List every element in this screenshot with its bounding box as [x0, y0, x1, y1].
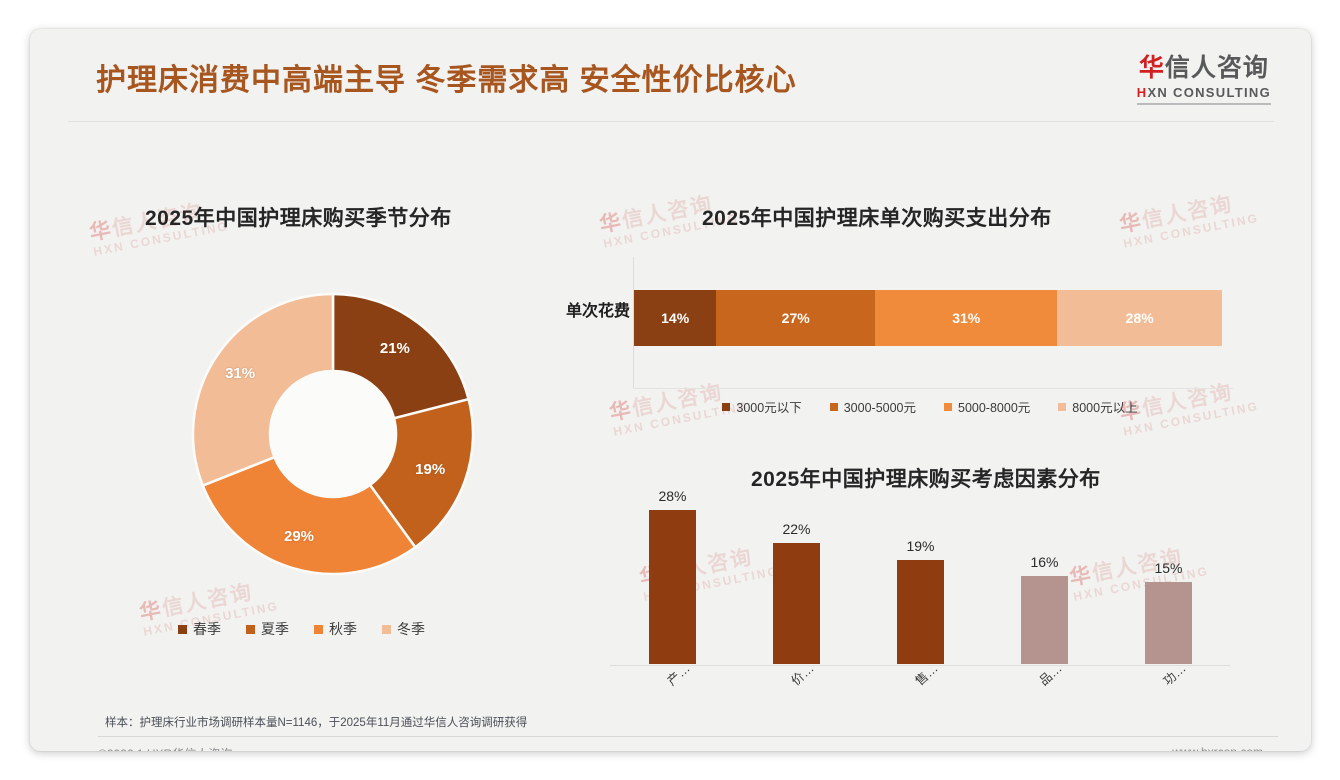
legend-label: 3000-5000元	[844, 397, 916, 416]
watermark-en: HXN CONSULTING	[1122, 211, 1260, 251]
legend-label: 3000元以下	[736, 397, 801, 416]
logo-cn-red: 华	[1139, 54, 1165, 82]
chart-title-factors: 2025年中国护理床购买考虑因素分布	[751, 463, 1101, 493]
legend-swatch-icon	[830, 403, 838, 411]
stacked-legend-item[interactable]: 3000-5000元	[830, 397, 916, 416]
donut-legend-item[interactable]: 夏季	[246, 619, 289, 639]
watermark-cn-red: 华	[598, 210, 625, 237]
column-bar[interactable]	[1021, 576, 1068, 664]
legend-swatch-icon	[1058, 403, 1066, 411]
donut-legend: 春季夏季秋季冬季	[178, 619, 425, 639]
column-value-label: 28%	[638, 488, 708, 504]
legend-swatch-icon	[944, 403, 952, 411]
donut-legend-item[interactable]: 秋季	[314, 619, 357, 639]
stacked-segment[interactable]: 28%	[1057, 290, 1222, 346]
stacked-bar-row[interactable]: 14%27%31%28%	[634, 290, 1222, 346]
footer-divider	[98, 736, 1278, 737]
source-note: 样本：护理床行业市场调研样本量N=1146，于2025年11月通过华信人咨询调研…	[105, 714, 527, 730]
watermark: 华信人咨询 HXN CONSULTING	[1118, 188, 1260, 251]
column-group: 19%	[897, 499, 944, 664]
watermark-cn-red: 华	[88, 218, 115, 245]
logo-cn-rest: 信人咨询	[1165, 54, 1269, 82]
legend-swatch-icon	[246, 625, 255, 634]
legend-swatch-icon	[178, 625, 187, 634]
watermark-cn-rest: 信人咨询	[620, 193, 715, 233]
header-divider	[68, 121, 1274, 122]
legend-label: 春季	[193, 619, 221, 639]
logo-en-rest: XN CONSULTING	[1147, 85, 1271, 100]
stacked-segment-value: 27%	[782, 310, 810, 326]
chart-season-donut: 21%19%29%31% 春季夏季秋季冬季	[138, 259, 558, 659]
donut-svg	[183, 284, 483, 584]
brand-logo: 华信人咨询 HXN CONSULTING	[1137, 55, 1271, 105]
column-value-label: 16%	[1010, 554, 1080, 570]
column-bar[interactable]	[773, 543, 820, 664]
legend-label: 5000-8000元	[958, 397, 1030, 416]
donut-slice-value: 21%	[380, 340, 410, 357]
donut-slice-value: 19%	[415, 461, 445, 478]
legend-label: 冬季	[397, 619, 425, 639]
stacked-row-label: 单次花费	[530, 297, 630, 321]
stacked-legend-item[interactable]: 8000元以上	[1058, 397, 1137, 416]
column-group: 22%	[773, 499, 820, 664]
stacked-segment[interactable]: 27%	[716, 290, 875, 346]
legend-label: 夏季	[261, 619, 289, 639]
slide-header: 护理床消费中高端主导 冬季需求高 安全性价比核心 华信人咨询 HXN CONSU…	[30, 29, 1311, 119]
legend-swatch-icon	[382, 625, 391, 634]
watermark-cn-rest: 信人咨询	[1140, 193, 1235, 233]
stacked-legend-item[interactable]: 3000元以下	[722, 397, 801, 416]
column-plot-area: 28%22%19%16%15%	[610, 499, 1230, 664]
watermark-cn-red: 华	[1118, 210, 1145, 237]
logo-underline	[1137, 103, 1271, 105]
legend-label: 秋季	[329, 619, 357, 639]
column-bar[interactable]	[649, 510, 696, 664]
logo-en-red: H	[1137, 85, 1148, 100]
stacked-segment-value: 28%	[1126, 310, 1154, 326]
column-group: 16%	[1021, 499, 1068, 664]
column-group: 28%	[649, 499, 696, 664]
donut-legend-item[interactable]: 春季	[178, 619, 221, 639]
donut-slice-value: 29%	[284, 528, 314, 545]
legend-swatch-icon	[722, 403, 730, 411]
stacked-legend: 3000元以下3000-5000元5000-8000元8000元以上	[640, 397, 1220, 416]
donut-slice-value: 31%	[225, 365, 255, 382]
stacked-legend-item[interactable]: 5000-8000元	[944, 397, 1030, 416]
stacked-segment[interactable]: 31%	[875, 290, 1057, 346]
chart-spend-stacked: 单次花费 14%27%31%28% 3000元以下3000-5000元5000-…	[520, 257, 1250, 417]
column-bar[interactable]	[897, 560, 944, 665]
column-bar[interactable]	[1145, 582, 1192, 665]
donut-legend-item[interactable]: 冬季	[382, 619, 425, 639]
column-value-label: 15%	[1134, 560, 1204, 576]
column-group: 15%	[1145, 499, 1192, 664]
page-title: 护理床消费中高端主导 冬季需求高 安全性价比核心	[96, 55, 797, 99]
donut-hole	[270, 371, 396, 497]
stacked-segment[interactable]: 14%	[634, 290, 716, 346]
column-value-label: 22%	[762, 521, 832, 537]
chart-factor-columns: 28%22%19%16%15% 产…价…售…品…功…	[590, 499, 1250, 714]
legend-label: 8000元以上	[1072, 397, 1137, 416]
chart-title-spend: 2025年中国护理床单次购买支出分布	[702, 202, 1052, 232]
stacked-segment-value: 14%	[661, 310, 689, 326]
slide-canvas: 华信人咨询 HXN CONSULTING 华信人咨询 HXN CONSULTIN…	[30, 29, 1311, 751]
stacked-segment-value: 31%	[952, 310, 980, 326]
website-url[interactable]: www.hxrcon.com	[1172, 745, 1263, 751]
chart-title-season: 2025年中国护理床购买季节分布	[145, 202, 452, 232]
column-value-label: 19%	[886, 538, 956, 554]
legend-swatch-icon	[314, 625, 323, 634]
copyright-text: ©2026.1 HXR华信人咨询	[98, 745, 232, 751]
stacked-baseline	[633, 388, 1233, 389]
